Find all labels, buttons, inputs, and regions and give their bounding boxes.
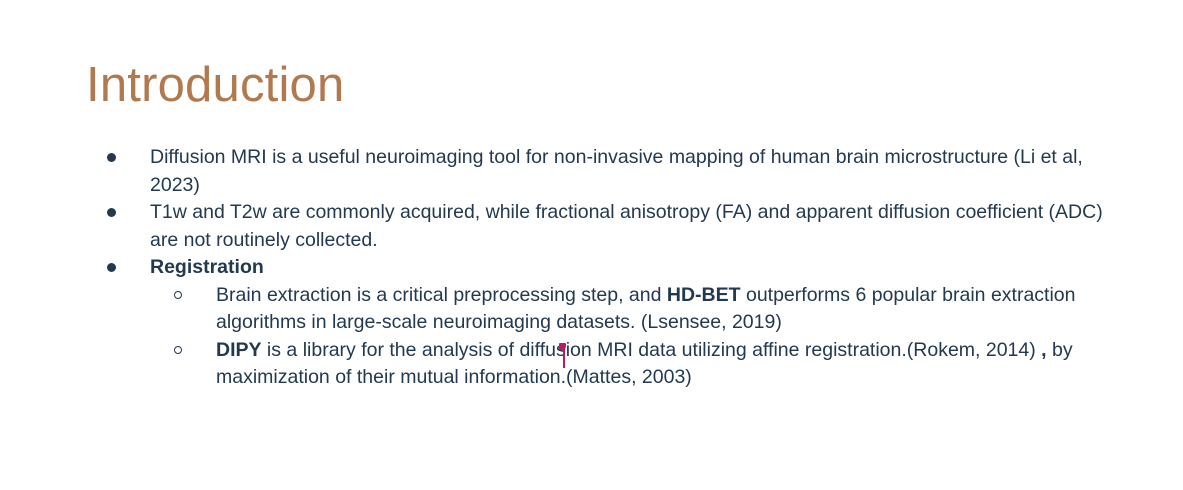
page-title: Introduction xyxy=(86,55,344,115)
hollow-circle-bullet-icon xyxy=(174,291,182,299)
slide-canvas: Introduction Diffusion MRI is a useful n… xyxy=(0,0,1183,490)
list-item-text: Diffusion MRI is a useful neuroimaging t… xyxy=(150,146,1083,196)
list-item: T1w and T2w are commonly acquired, while… xyxy=(0,199,1183,254)
list-item-text: HD-BET xyxy=(667,284,741,306)
list-item-text: Registration xyxy=(150,256,264,278)
list-item: Brain extraction is a critical preproces… xyxy=(0,282,1183,337)
list-item-text: Brain extraction is a critical preproces… xyxy=(216,284,667,306)
hollow-circle-bullet-icon xyxy=(174,346,182,354)
list-item-text: T1w and T2w are commonly acquired, while… xyxy=(150,201,1103,251)
list-item: Registration xyxy=(0,254,1183,282)
bullet-list: Diffusion MRI is a useful neuroimaging t… xyxy=(0,144,1183,392)
list-item-text: DIPY xyxy=(216,339,262,361)
disc-bullet-icon xyxy=(107,153,116,162)
disc-bullet-icon xyxy=(107,208,116,217)
disc-bullet-icon xyxy=(107,263,116,272)
list-item-text: is a library for the analysis of diffusi… xyxy=(262,339,1042,361)
list-item: DIPY is a library for the analysis of di… xyxy=(0,337,1183,392)
list-item: Diffusion MRI is a useful neuroimaging t… xyxy=(0,144,1183,199)
